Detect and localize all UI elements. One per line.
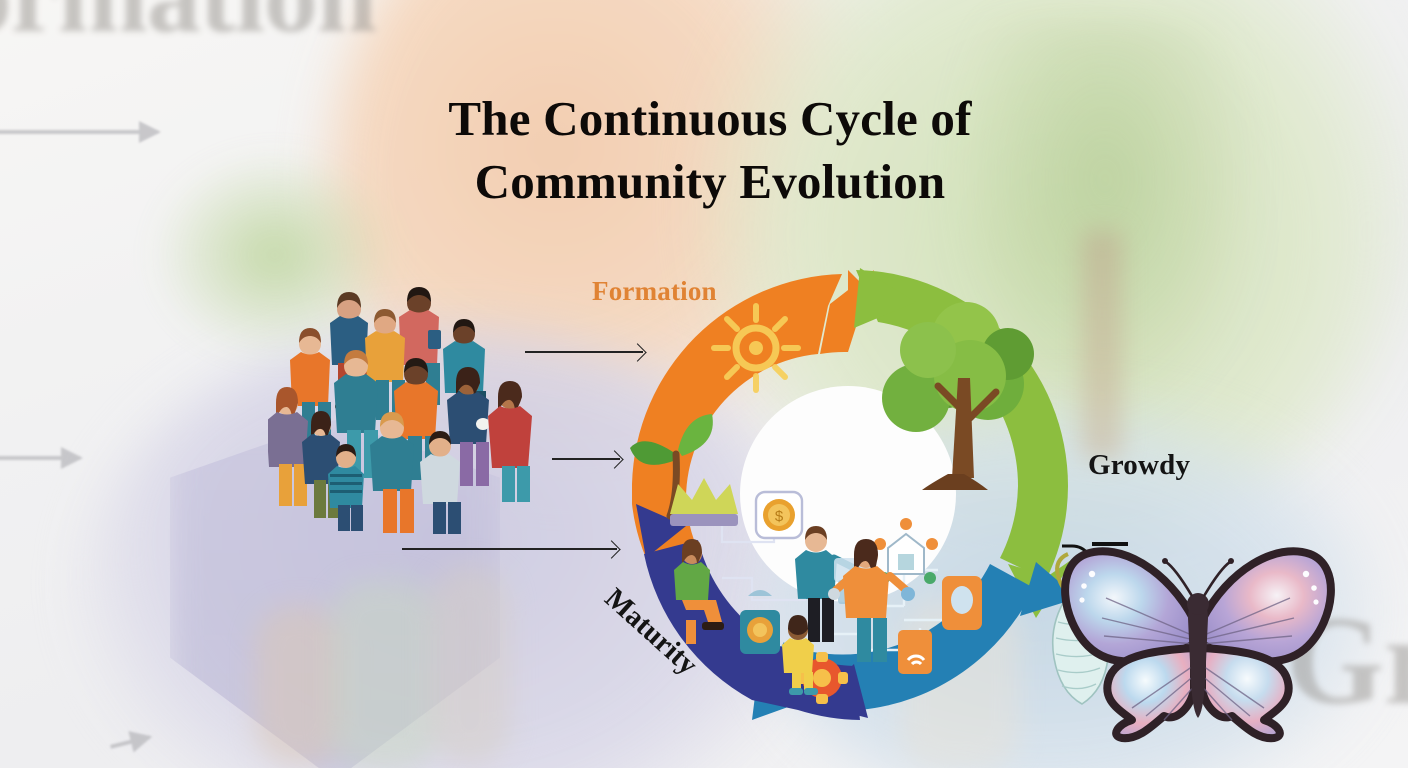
lead-arrow-bottom	[402, 548, 617, 550]
segment-label-growth: Growdy	[1088, 449, 1190, 482]
page-title-line-1: The Continuous Cycle of	[300, 88, 1120, 151]
community-crowd-illustration	[268, 286, 540, 536]
butterfly-illustration	[1048, 524, 1348, 744]
page-title-line-2: Community Evolution	[300, 151, 1120, 214]
lead-arrow-middle	[552, 458, 620, 460]
ghost-arrow-3	[110, 735, 150, 749]
page-title: The Continuous Cycle of Community Evolut…	[300, 88, 1120, 213]
segment-label-formation: Formation	[592, 276, 717, 307]
ghost-arrow-1	[0, 130, 158, 134]
svg-text:$: $	[775, 508, 784, 525]
sun-icon	[714, 306, 798, 390]
device-icon	[942, 576, 982, 630]
signal-icon	[898, 630, 932, 674]
ghost-figure	[330, 580, 440, 768]
infographic-canvas: ormation Gr The Continuous Cycle of Comm…	[0, 0, 1408, 768]
crowd-svg	[268, 286, 540, 536]
coin-icon: $	[756, 492, 802, 538]
ghost-figure	[430, 565, 510, 765]
ghost-word-formation: ormation	[0, 0, 376, 58]
ghost-trunk-shape	[1082, 230, 1122, 460]
ghost-arrow-2	[0, 456, 80, 460]
